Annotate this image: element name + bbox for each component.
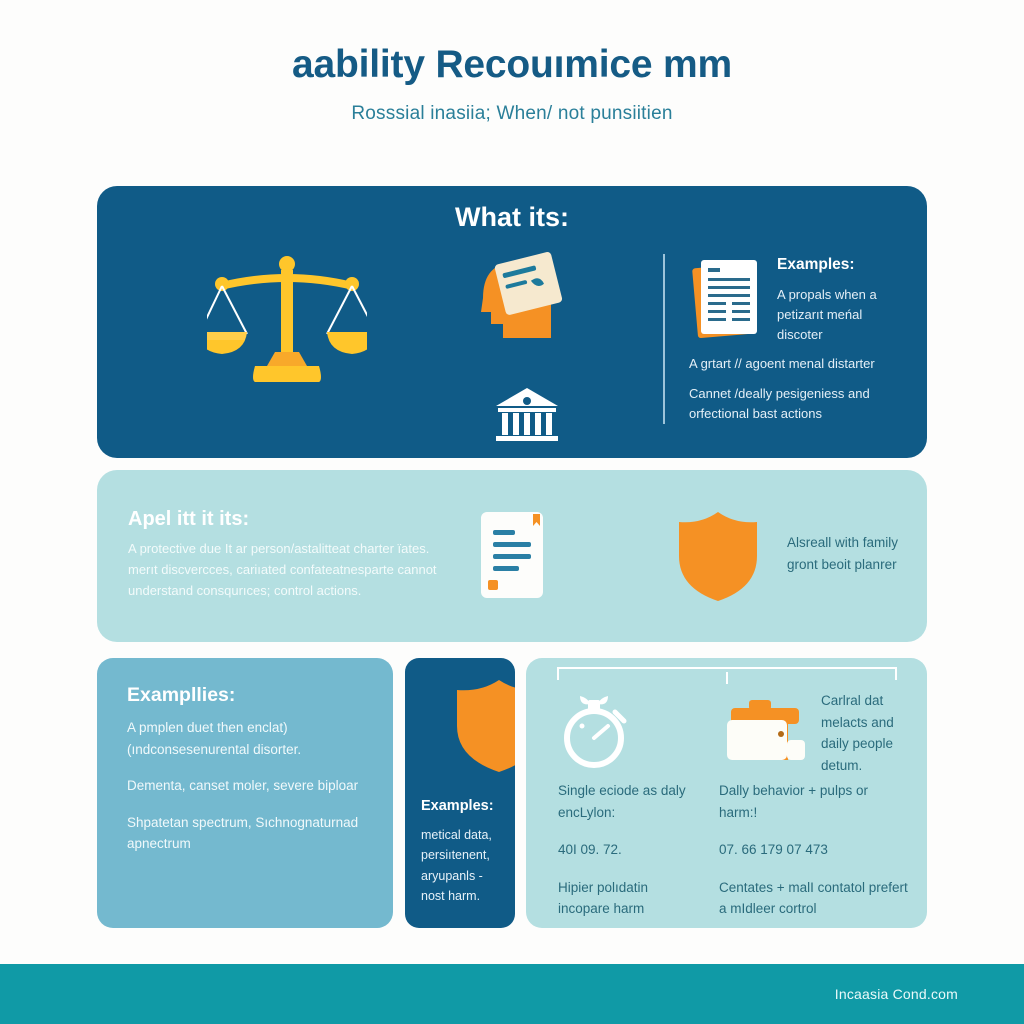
panel-light-heading: Apel itt it its:: [128, 508, 249, 531]
footer-bar: Incaasia Cond.com: [0, 964, 1024, 1024]
header: aability Recouımice mm Rosssial inasiia;…: [0, 44, 1024, 125]
br-left-paragraph-1: Single eciode as daly encLylon:: [558, 780, 697, 823]
br-right-paragraph-2: 07. 66 179 07 473: [719, 839, 909, 861]
panel-definition: Apel itt it its: A protective due It ar …: [97, 470, 927, 642]
footer-site-label: Incaasia Cond.com: [835, 986, 958, 1002]
br-left-paragraph-3: Hipier polıdatin incopare harm: [558, 877, 697, 920]
right-icon-row: Carlral dat melacts and daily people det…: [719, 688, 909, 780]
bl-paragraph-1: A pmplen duet then enclat) (ındconsesenu…: [127, 717, 377, 760]
document-icon: [475, 508, 549, 604]
examples-line-2: Cannet /deally pesigeniess and orfection…: [689, 384, 917, 424]
infographic-page: aability Recouımice mm Rosssial inasiia;…: [0, 0, 1024, 1024]
bracket-gap: [759, 670, 761, 684]
page-subtitle: Rosssial inasiia; When/ not punsiitien: [0, 103, 1024, 125]
page-title: aability Recouımice mm: [0, 44, 1024, 87]
panel-examples-list: Exampllies: A pmplen duet then enclat) (…: [97, 658, 393, 928]
shield-icon: [675, 508, 761, 604]
briefcase-icon: [719, 688, 811, 772]
br-right-paragraph-3: Centates + malI contatol prefert a mIdle…: [719, 877, 909, 920]
bottom-mid-heading: Examples:: [421, 798, 494, 814]
left-column-body: Single eciode as daly encLylon: 40I 09. …: [558, 780, 697, 920]
documents-stack-icon: [689, 256, 765, 348]
right-column-body: Dally behavior + pulps or harm:! 07. 66 …: [719, 780, 909, 920]
bottom-left-body: A pmplen duet then enclat) (ındconsesenu…: [127, 717, 377, 870]
stopwatch-icon: [558, 688, 634, 772]
examples-line-1: A grtart // agoent menal distarter: [689, 354, 917, 374]
panel-what-it-is: What its:: [97, 186, 927, 458]
comparison-column-right: Carlral dat melacts and daily people det…: [709, 688, 927, 936]
briefcase-caption: Carlral dat melacts and daily people det…: [821, 688, 909, 776]
bracket-tick: [726, 672, 728, 684]
examples-heading: Examples:: [777, 256, 897, 274]
bl-paragraph-3: Shpatetan spectrum, Sıchnognaturnad apne…: [127, 812, 377, 855]
shield-caption: Alsreall with family gront beoit planrer: [787, 532, 917, 576]
comparison-columns: Single eciode as daly encLylon: 40I 09. …: [526, 688, 927, 936]
shield-icon: [455, 676, 515, 776]
br-left-paragraph-2: 40I 09. 72.: [558, 839, 697, 861]
comparison-column-left: Single eciode as daly encLylon: 40I 09. …: [526, 688, 709, 936]
bl-paragraph-2: Dementa, canset moler, severe biploar: [127, 775, 377, 797]
courthouse-icon: [492, 386, 562, 444]
bottom-left-heading: Exampllies:: [127, 684, 235, 707]
scales-of-justice-icon: [207, 248, 367, 388]
br-right-paragraph-1: Dally behavior + pulps or harm:!: [719, 780, 909, 823]
bottom-mid-body: metical data, persiıtenent, aryupanls - …: [421, 825, 507, 906]
panel-dark-text-column: Examples: A propals when a petizarıt meń…: [689, 256, 917, 433]
panel-dark-title: What its:: [97, 202, 927, 233]
panel-comparison: Single eciode as daly encLylon: 40I 09. …: [526, 658, 927, 928]
vertical-divider: [663, 254, 665, 424]
left-icon-row: [558, 688, 697, 780]
panel-light-body: A protective due It ar person/astalittea…: [128, 538, 448, 601]
examples-lead-text: A propals when a petizarıt meńal discote…: [777, 285, 897, 345]
head-with-document-icon: [465, 246, 575, 356]
panel-examples-narrow: Examples: metical data, persiıtenent, ar…: [405, 658, 515, 928]
